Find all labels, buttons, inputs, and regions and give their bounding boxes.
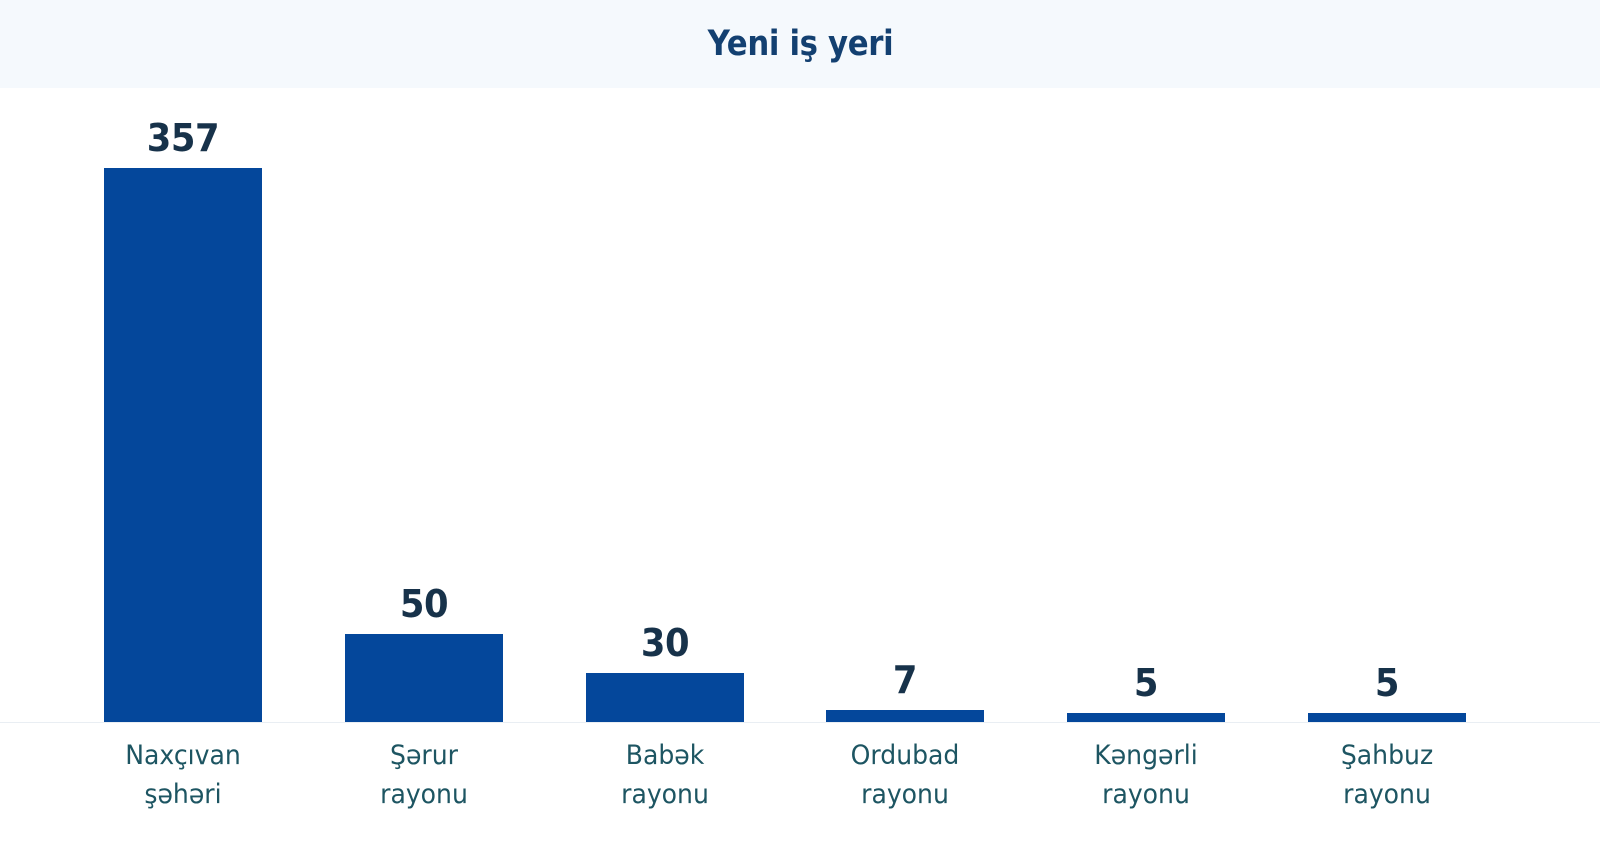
bar-value-label: 357 xyxy=(110,119,257,157)
bar-value-label: 5 xyxy=(1314,664,1461,702)
bar[interactable] xyxy=(826,710,984,722)
bar-value-label: 30 xyxy=(592,624,739,662)
bar-group[interactable]: 357 xyxy=(104,168,262,722)
tick-label-line-2: rayonu xyxy=(326,775,521,814)
tick-label-line-1: Babək xyxy=(567,736,762,775)
bar-value-label: 50 xyxy=(351,585,498,623)
x-axis-tick-label: Babəkrayonu xyxy=(567,736,762,814)
plot-area: 357Naxçıvanşəhəri50Şərurrayonu30Babəkray… xyxy=(0,88,1600,843)
bar[interactable] xyxy=(1067,713,1225,722)
bar-group[interactable]: 7 xyxy=(826,710,984,722)
bar-value-label: 7 xyxy=(832,661,979,699)
tick-label-line-1: Kəngərli xyxy=(1048,736,1243,775)
bar[interactable] xyxy=(104,168,262,722)
bar-group[interactable]: 30 xyxy=(586,673,744,722)
x-axis-tick-label: Kəngərlirayonu xyxy=(1048,736,1243,814)
bar-chart-card: Yeni iş yeri 357Naxçıvanşəhəri50Şərurray… xyxy=(0,0,1600,843)
tick-label-line-1: Şahbuz xyxy=(1289,736,1484,775)
bar[interactable] xyxy=(1308,713,1466,722)
tick-label-line-2: şəhəri xyxy=(85,775,280,814)
tick-label-line-1: Naxçıvan xyxy=(85,736,280,775)
tick-label-line-2: rayonu xyxy=(807,775,1002,814)
x-axis-tick-label: Şərurrayonu xyxy=(326,736,521,814)
bar-group[interactable]: 5 xyxy=(1308,713,1466,722)
bars-layer: 357Naxçıvanşəhəri50Şərurrayonu30Babəkray… xyxy=(0,88,1600,843)
chart-header: Yeni iş yeri xyxy=(0,0,1600,88)
bar-value-label: 5 xyxy=(1073,664,1220,702)
tick-label-line-1: Ordubad xyxy=(807,736,1002,775)
tick-label-line-2: rayonu xyxy=(1048,775,1243,814)
x-axis-tick-label: Ordubadrayonu xyxy=(807,736,1002,814)
tick-label-line-2: rayonu xyxy=(1289,775,1484,814)
bar-group[interactable]: 5 xyxy=(1067,713,1225,722)
tick-label-line-2: rayonu xyxy=(567,775,762,814)
x-axis-tick-label: Şahbuzrayonu xyxy=(1289,736,1484,814)
bar[interactable] xyxy=(345,634,503,722)
tick-label-line-1: Şərur xyxy=(326,736,521,775)
bar-group[interactable]: 50 xyxy=(345,634,503,722)
bar[interactable] xyxy=(586,673,744,722)
x-axis-tick-label: Naxçıvanşəhəri xyxy=(85,736,280,814)
page-title: Yeni iş yeri xyxy=(707,27,893,62)
